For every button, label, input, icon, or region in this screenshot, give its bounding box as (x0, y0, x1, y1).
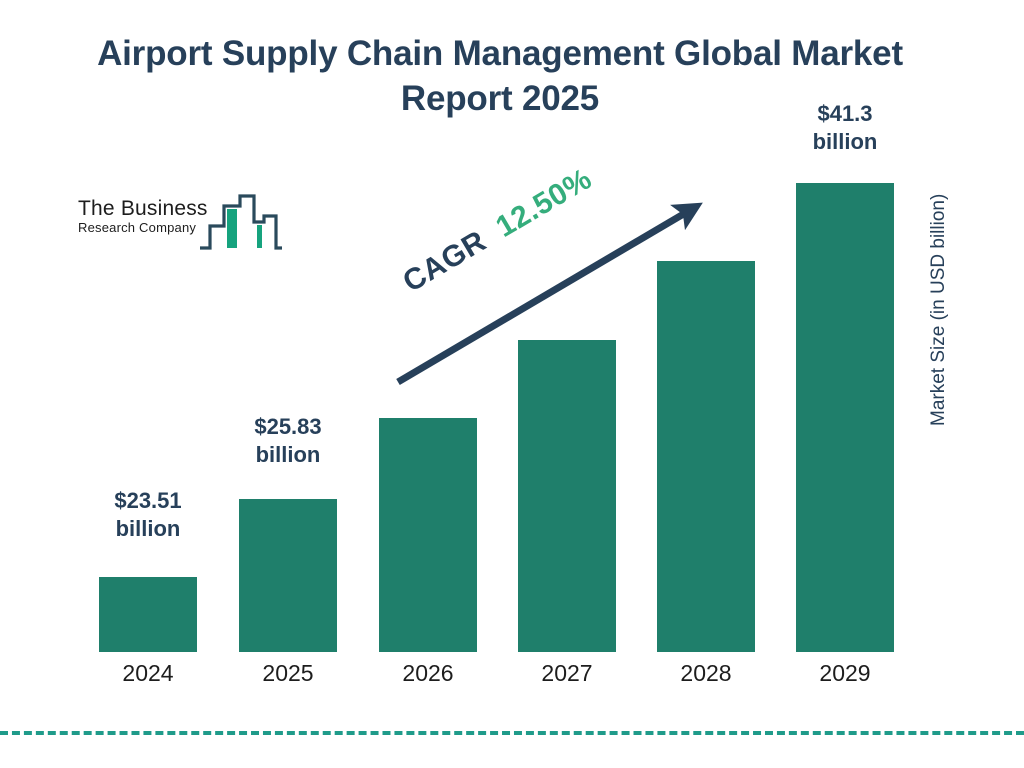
bar-label-2024: $23.51 billion (78, 487, 218, 543)
bar-label-2025: $25.83 billion (218, 413, 358, 469)
bar-2026[interactable] (379, 418, 477, 652)
x-tick-2026: 2026 (369, 660, 487, 687)
x-tick-2029: 2029 (786, 660, 904, 687)
bar-2024[interactable] (99, 577, 197, 652)
x-tick-2028: 2028 (647, 660, 765, 687)
x-tick-2027: 2027 (508, 660, 626, 687)
bar-2028[interactable] (657, 261, 755, 652)
bar-2027[interactable] (518, 340, 616, 652)
bar-2025[interactable] (239, 499, 337, 652)
footer-divider (0, 731, 1024, 735)
x-tick-2024: 2024 (89, 660, 207, 687)
plot-area: $23.51 billion $25.83 billion $41.3 bill… (0, 0, 1024, 768)
y-axis-label: Market Size (in USD billion) (928, 196, 950, 426)
bar-2029[interactable] (796, 183, 894, 652)
bar-label-2029: $41.3 billion (775, 100, 915, 156)
chart-canvas: Airport Supply Chain Management Global M… (0, 0, 1024, 768)
x-tick-2025: 2025 (229, 660, 347, 687)
